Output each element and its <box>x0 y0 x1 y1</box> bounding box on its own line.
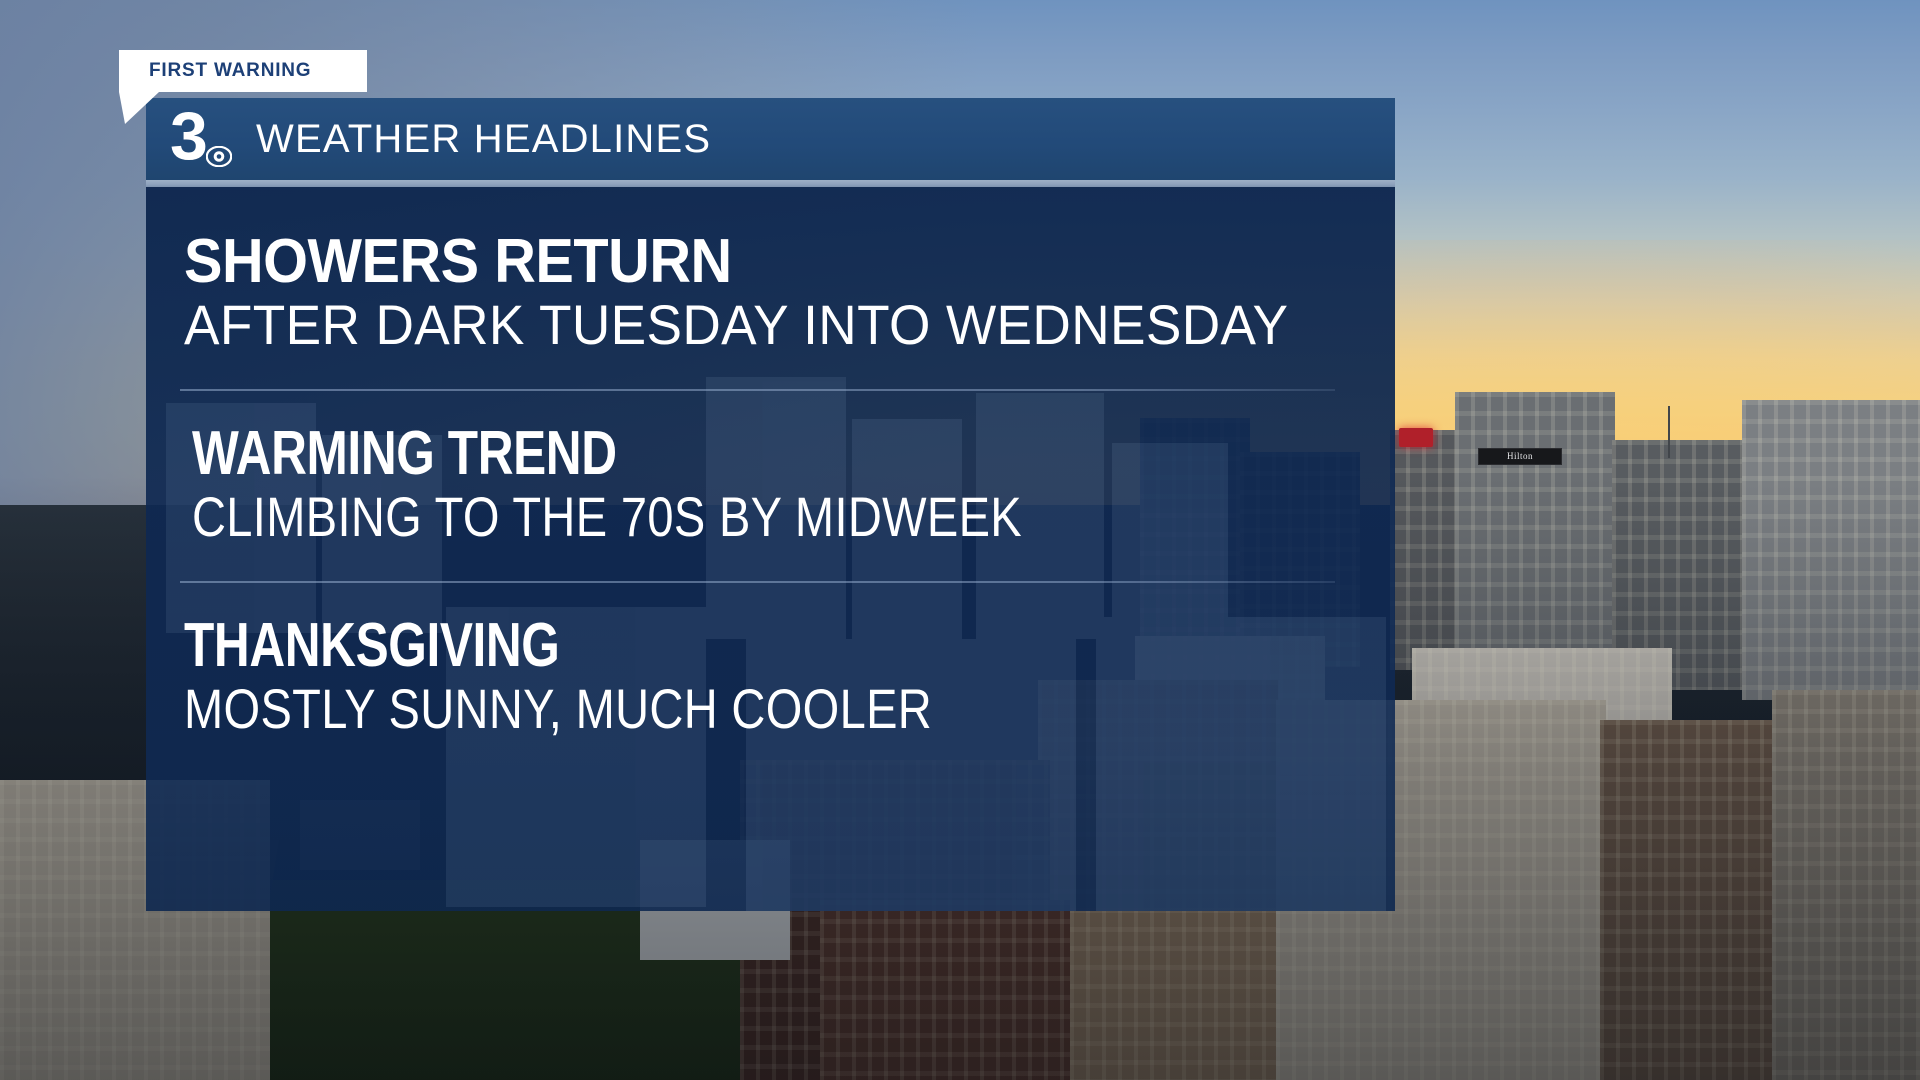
header-separator-rule <box>146 180 1395 187</box>
channel-3-logo: 3 <box>170 108 240 170</box>
headline-divider <box>180 389 1335 391</box>
cbs-eye-icon <box>206 146 232 167</box>
first-warning-badge: FIRST WARNING <box>119 50 367 92</box>
headline-item: THANKSGIVING MOSTLY SUNNY, MUCH COOLER <box>146 613 1395 739</box>
first-warning-label: FIRST WARNING <box>149 60 311 82</box>
broadcast-graphic: Hilton FIRST WARNING 3 <box>0 0 1920 1080</box>
panel-body: SHOWERS RETURN AFTER DARK TUESDAY INTO W… <box>146 187 1395 911</box>
headline-item: SHOWERS RETURN AFTER DARK TUESDAY INTO W… <box>146 229 1395 355</box>
weather-headlines-panel: 3 WEATHER HEADLINES <box>146 98 1395 911</box>
panel-title: WEATHER HEADLINES <box>256 117 711 162</box>
headline-subtitle: CLIMBING TO THE 70S BY MIDWEEK <box>192 487 1203 547</box>
channel-number: 3 <box>170 105 205 167</box>
panel-header: 3 WEATHER HEADLINES <box>146 98 1395 180</box>
headline-item: WARMING TREND CLIMBING TO THE 70S BY MID… <box>146 421 1395 547</box>
headline-title: THANKSGIVING <box>184 613 1153 679</box>
headline-divider <box>180 581 1335 583</box>
headline-title: SHOWERS RETURN <box>184 229 1310 295</box>
headline-subtitle: MOSTLY SUNNY, MUCH COOLER <box>184 679 1201 739</box>
headline-title: WARMING TREND <box>192 421 1154 487</box>
headline-subtitle: AFTER DARK TUESDAY INTO WEDNESDAY <box>184 295 1334 355</box>
badge-tail-icon <box>119 92 159 124</box>
